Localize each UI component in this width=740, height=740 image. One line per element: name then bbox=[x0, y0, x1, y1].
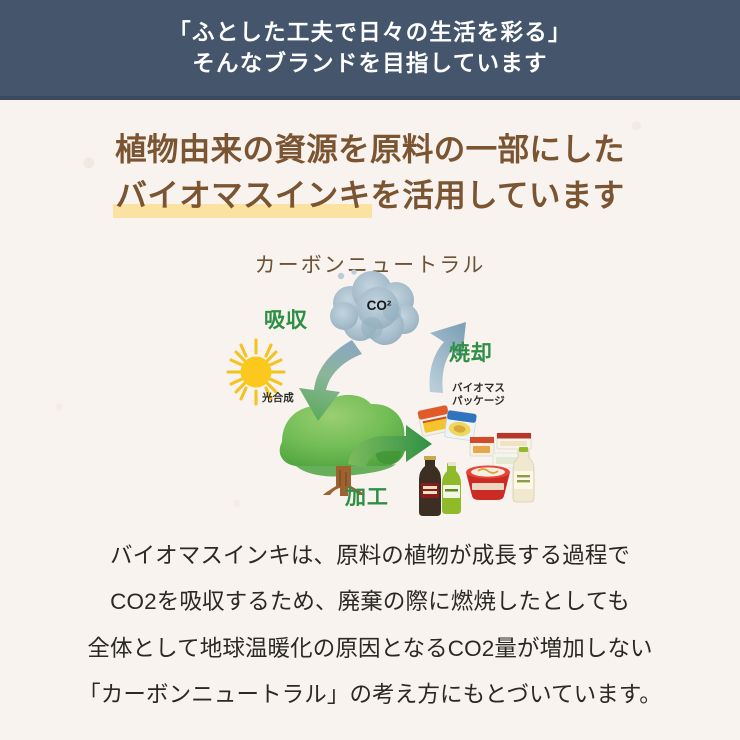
diagram-label-package: バイオマス パッケージ bbox=[452, 382, 505, 408]
package-label-line-2: パッケージ bbox=[452, 395, 505, 407]
carbon-neutral-diagram: カーボンニュートラル bbox=[0, 240, 740, 530]
diagram-label-process: 加工 bbox=[345, 481, 389, 511]
co2-label: CO² bbox=[367, 298, 392, 313]
body-paragraph: バイオマスインキは、原料の植物が成長する過程で CO2を吸収するため、廃棄の際に… bbox=[0, 533, 740, 718]
green-bottle bbox=[442, 462, 461, 514]
heading-line-2-rest: を活用しています bbox=[370, 177, 624, 213]
diagram-label-absorb: 吸収 bbox=[264, 304, 308, 334]
infographic-page: 「ふとした工夫で日々の生活を彩る」 そんなブランドを目指しています 植物由来の資… bbox=[0, 0, 740, 740]
heading-highlight: バイオマスインキ bbox=[115, 172, 370, 218]
diagram-label-photosynthesis: 光合成 bbox=[262, 392, 294, 405]
co2-cloud-icon: CO² bbox=[330, 269, 419, 345]
body-line-3: 全体として地球温暖化の原因となるCO2量が増加しない bbox=[0, 626, 740, 672]
banner-line-1: 「ふとした工夫で日々の生活を彩る」 bbox=[168, 17, 572, 48]
heading-line-2: バイオマスインキを活用しています bbox=[0, 172, 740, 218]
package-label-line-1: バイオマス bbox=[452, 382, 505, 394]
diagram-label-burn: 焼却 bbox=[449, 337, 493, 367]
main-heading: 植物由来の資源を原料の一部にした バイオマスインキを活用しています bbox=[0, 126, 740, 219]
body-line-1: バイオマスインキは、原料の植物が成長する過程で bbox=[0, 533, 740, 579]
red-bowl bbox=[466, 466, 510, 501]
biomass-package-products-icon bbox=[417, 405, 534, 516]
body-line-2: CO2を吸収するため、廃棄の際に燃焼したとしても bbox=[0, 579, 740, 625]
banner-line-2: そんなブランドを目指しています bbox=[192, 48, 547, 79]
dark-bottle bbox=[419, 456, 441, 516]
body-line-4: 「カーボンニュートラル」の考え方にもとづいています。 bbox=[0, 672, 740, 718]
heading-line-1: 植物由来の資源を原料の一部にした bbox=[0, 126, 740, 172]
header-banner: 「ふとした工夫で日々の生活を彩る」 そんなブランドを目指しています bbox=[0, 0, 740, 100]
